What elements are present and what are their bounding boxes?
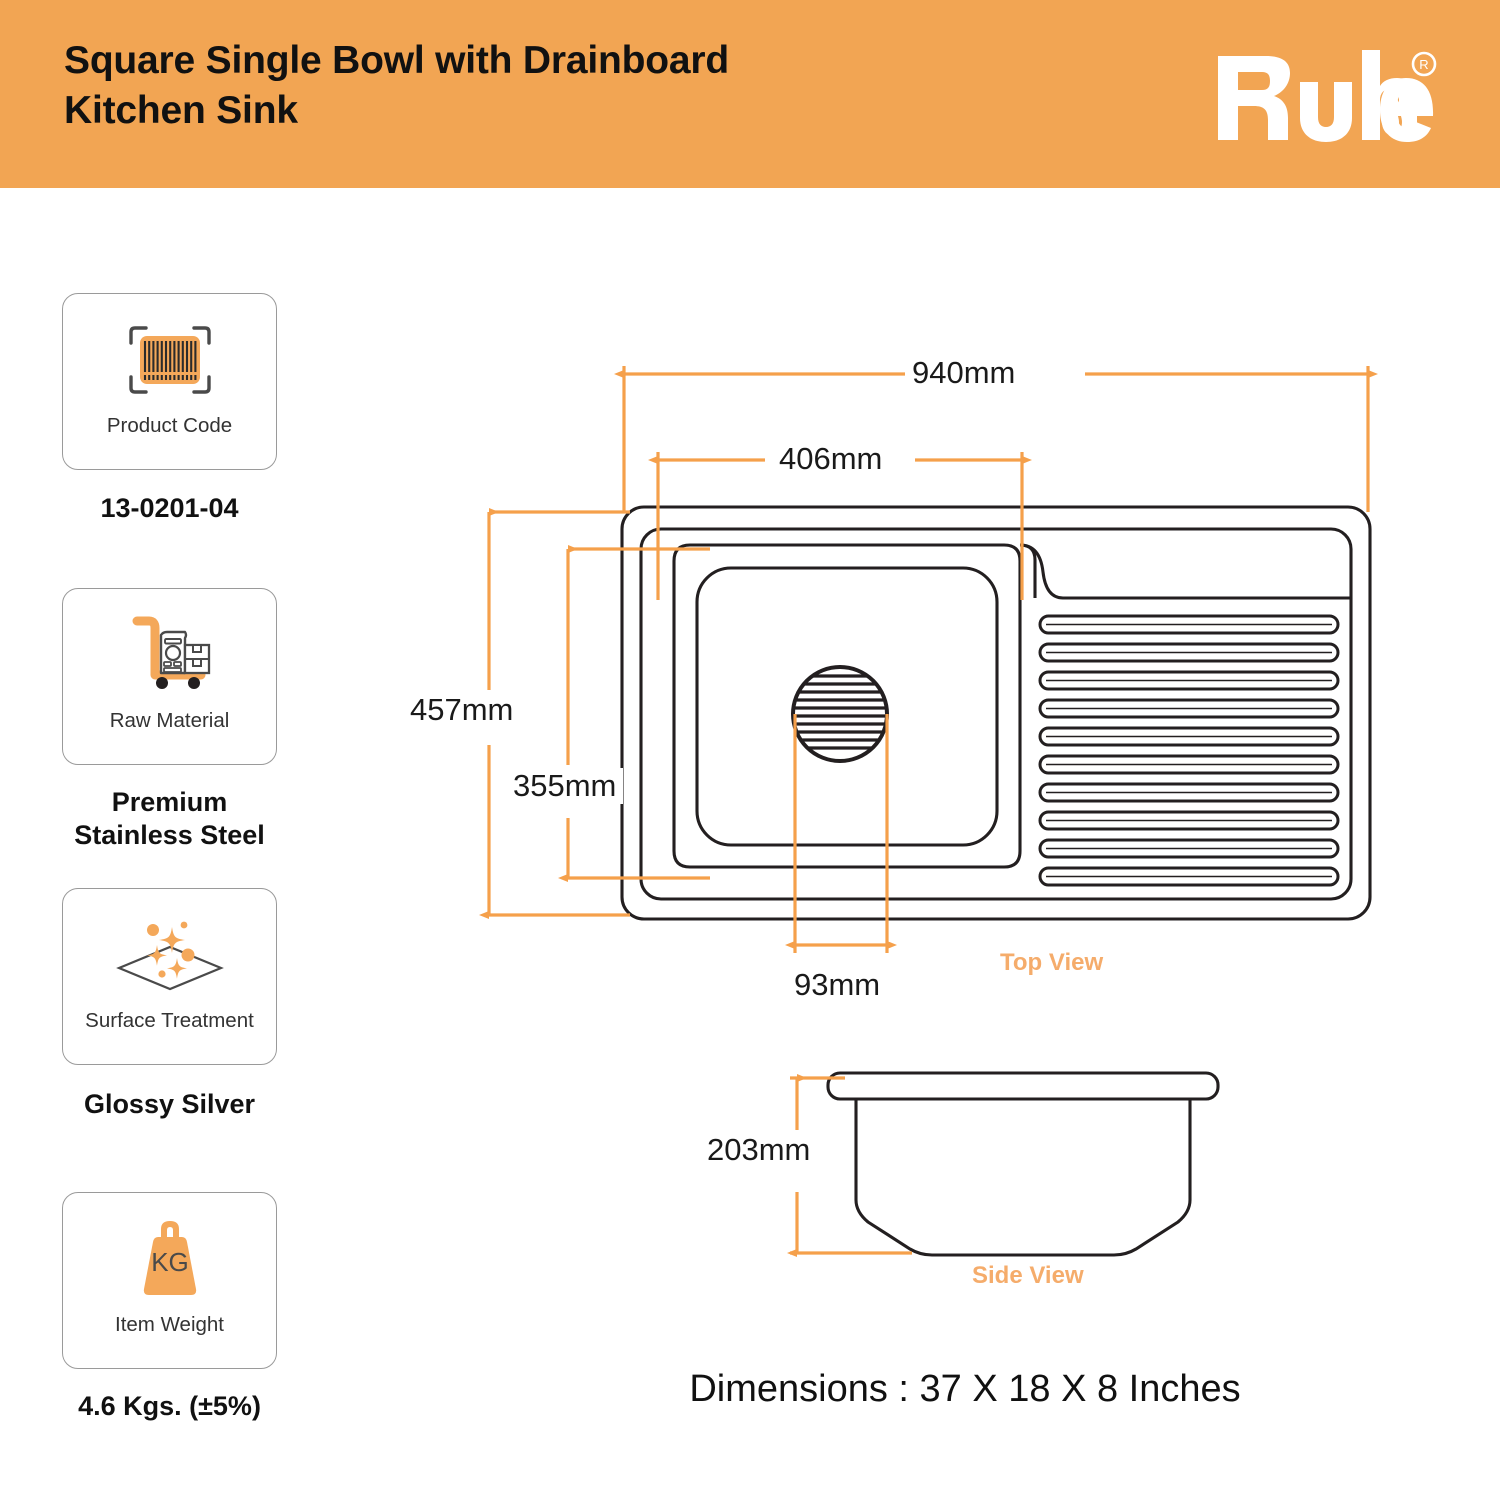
dim-bowl-height: 203mm bbox=[700, 1132, 817, 1168]
drainboard-grooves bbox=[1040, 616, 1338, 885]
weight-icon-text: KG bbox=[151, 1247, 189, 1277]
spec-card-surface-treatment: Surface Treatment bbox=[62, 888, 277, 1065]
ruhe-logo: R bbox=[1212, 48, 1442, 148]
weight-icon: KG bbox=[105, 1209, 235, 1309]
top-view-bowl bbox=[674, 545, 1020, 867]
top-view-sink bbox=[622, 507, 1370, 919]
overall-dimensions-text: Dimensions : 37 X 18 X 8 Inches bbox=[0, 1368, 1500, 1411]
spec-card-label: Product Code bbox=[107, 414, 232, 438]
dim-bowl-width: 406mm bbox=[772, 441, 889, 477]
sparkle-surface-icon bbox=[105, 905, 235, 1005]
drain-grate bbox=[790, 667, 890, 761]
spec-card-label: Surface Treatment bbox=[85, 1009, 254, 1033]
barcode-icon bbox=[105, 310, 235, 410]
bowl-drainboard-transition bbox=[1020, 545, 1351, 598]
header-bar: Square Single Bowl with Drainboard Kitch… bbox=[0, 0, 1500, 188]
dim-overall-width: 940mm bbox=[905, 355, 1022, 391]
product-spec-sheet: Square Single Bowl with Drainboard Kitch… bbox=[0, 0, 1500, 1500]
spec-card-label: Raw Material bbox=[110, 709, 230, 733]
hand-truck-icon bbox=[105, 605, 235, 705]
dimension-lines-top-view bbox=[489, 366, 1368, 953]
surface-treatment-value: Glossy Silver bbox=[62, 1088, 277, 1121]
dim-overall-depth: 457mm bbox=[403, 692, 520, 728]
dim-drain-diameter: 93mm bbox=[787, 967, 887, 1003]
svg-text:R: R bbox=[1419, 57, 1428, 72]
raw-material-value: Premium Stainless Steel bbox=[62, 786, 277, 852]
dim-bowl-depth: 355mm bbox=[506, 768, 623, 804]
spec-card-label: Item Weight bbox=[115, 1313, 224, 1337]
spec-card-item-weight: KG Item Weight bbox=[62, 1192, 277, 1369]
spec-card-product-code: Product Code bbox=[62, 293, 277, 470]
side-view-label: Side View bbox=[972, 1262, 1084, 1290]
side-view-sink bbox=[828, 1073, 1218, 1255]
page-title: Square Single Bowl with Drainboard Kitch… bbox=[64, 36, 729, 136]
top-view-label: Top View bbox=[1000, 949, 1103, 977]
product-code-value: 13-0201-04 bbox=[62, 492, 277, 525]
spec-card-raw-material: Raw Material bbox=[62, 588, 277, 765]
